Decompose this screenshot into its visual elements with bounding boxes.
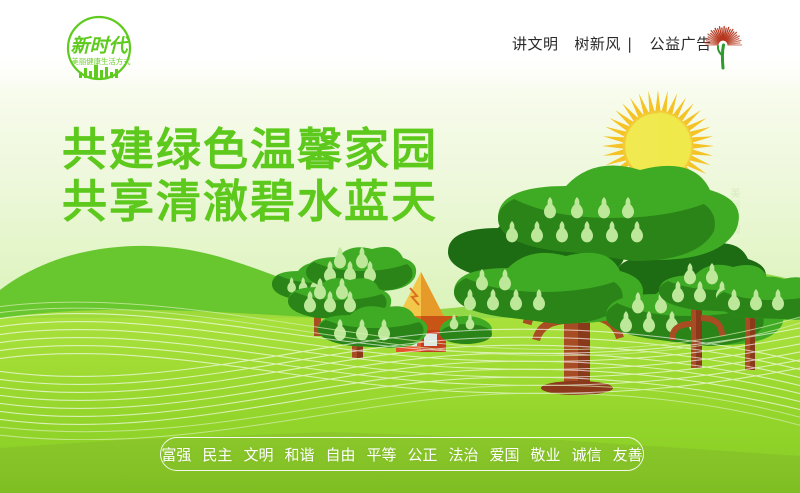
core-values-banner: 富强民主文明和谐自由平等公正法治爱国敬业诚信友善 (160, 437, 644, 471)
poster-canvas: 美丽中国 新时代 美丽健康生活方式 讲文明 (0, 0, 800, 493)
core-value-item: 富强 (161, 444, 191, 465)
slogan-separator: | (627, 35, 633, 53)
core-value-item: 爱国 (490, 444, 520, 465)
core-value-item: 诚信 (572, 444, 602, 465)
core-value-item: 友善 (613, 444, 643, 465)
core-values-list: 富强民主文明和谐自由平等公正法治爱国敬业诚信友善 (161, 444, 642, 465)
core-value-item: 敬业 (531, 444, 561, 465)
title-line-1: 共建绿色温馨家园 (62, 124, 438, 176)
slogan-part-2: 树新风 (574, 35, 621, 53)
logo-skyline-icon (79, 65, 118, 78)
dandelion-flower-icon (700, 18, 748, 76)
core-value-item: 平等 (366, 444, 396, 465)
xinshidai-logo[interactable]: 新时代 美丽健康生活方式 (46, 14, 152, 82)
core-value-item: 公正 (408, 444, 438, 465)
core-value-item: 自由 (325, 444, 355, 465)
decorative-wave-lines (0, 300, 800, 440)
core-value-item: 法治 (449, 444, 479, 465)
public-service-slogan: 讲文明 树新风 | 公益广告 (512, 33, 712, 54)
main-title: 共建绿色温馨家园 共享清澈碧水蓝天 (62, 124, 438, 228)
logo-sub-text: 美丽健康生活方式 (71, 57, 131, 66)
title-line-2: 共享清澈碧水蓝天 (62, 176, 438, 228)
core-value-item: 文明 (243, 444, 273, 465)
logo-main-text: 新时代 (70, 35, 130, 57)
core-value-item: 和谐 (284, 444, 314, 465)
svg-text:新时代: 新时代 (70, 35, 130, 57)
core-value-item: 民主 (202, 444, 232, 465)
svg-text:美丽健康生活方式: 美丽健康生活方式 (71, 57, 131, 66)
slogan-part-1: 讲文明 (512, 35, 559, 53)
